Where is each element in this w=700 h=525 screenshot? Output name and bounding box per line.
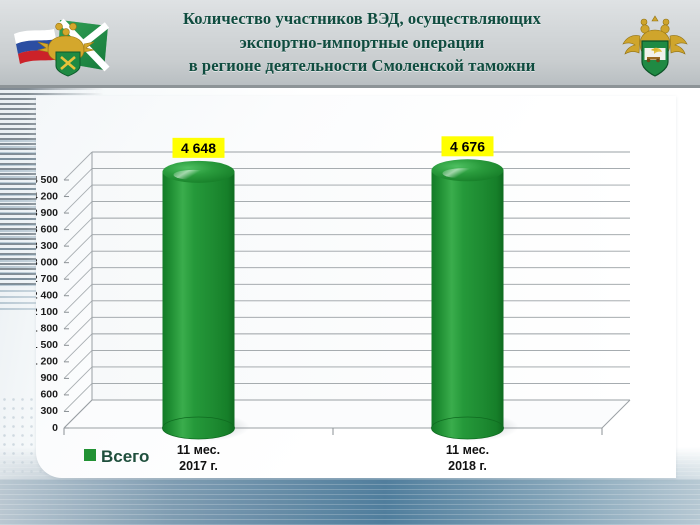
depth-line [64,152,92,180]
x-axis-ticks [64,428,602,435]
value-label: 4 648 [181,140,216,156]
y-axis-tick-label: 3 900 [36,207,58,219]
y-axis-tick-label: 0 [52,422,58,434]
depth-line [64,185,92,213]
category-label-line: 11 мес. [446,443,489,457]
smolensk-customs-emblem-icon [618,10,692,84]
depth-line [64,367,92,395]
legend-label-vsego: Всего [101,447,149,466]
depth-line [64,350,92,378]
depth-line [64,169,92,197]
bar-cylinder-body [432,170,504,439]
bar-cap-highlight [443,168,483,178]
y-axis-labels: 4 5004 2003 9003 6003 3003 0002 7002 400… [36,174,58,434]
depth-line [64,251,92,279]
chart-legend: Всего [84,447,149,466]
y-axis-tick-label: 3 600 [36,223,58,235]
bar-cap-highlight [174,170,214,180]
depth-line [64,334,92,362]
legend-swatch-vsego [84,449,96,461]
slide: Количество участников ВЭД, осуществляющи… [0,0,700,525]
title-line-2: экспортно-импортные операции [183,31,541,54]
y-axis-tick-label: 2 400 [36,290,58,302]
depth-line [64,268,92,296]
y-axis-tick-label: 1 800 [36,323,58,335]
y-axis-tick-label: 300 [40,405,58,417]
depth-line [64,284,92,312]
bar-cylinder-body [163,172,235,439]
y-axis-tick-label: 2 700 [36,273,58,285]
title-line-3: в регионе деятельности Смоленской таможн… [183,54,541,77]
y-axis-tick-label: 1 200 [36,356,58,368]
title-line-1: Количество участников ВЭД, осуществляющи… [183,7,541,30]
depth-line [64,235,92,263]
page-title: Количество участников ВЭД, осуществляющи… [183,7,541,77]
category-label-line: 11 мес. [177,443,220,457]
y-axis-tick-label: 900 [40,372,58,384]
y-axis-tick-label: 4 200 [36,190,58,202]
customs-flag-logo-icon [4,12,124,80]
depth-line [64,218,92,246]
y-axis-tick-label: 3 300 [36,240,58,252]
category-label-line: 2018 г. [448,459,487,473]
value-label: 4 676 [450,138,485,154]
depth-line [64,202,92,230]
bar-chart: 4 5004 2003 9003 6003 3003 0002 7002 400… [36,96,676,496]
y-axis-tick-label: 600 [40,389,58,401]
y-axis-tick-label: 1 500 [36,339,58,351]
slide-header: Количество участников ВЭД, осуществляющи… [0,0,700,88]
y-axis-tick-label: 2 100 [36,306,58,318]
depth-line [64,301,92,329]
category-labels: 11 мес.2017 г.11 мес.2018 г. [177,443,489,473]
depth-line [64,317,92,345]
chart-floor [64,400,630,428]
category-label-line: 2017 г. [179,459,218,473]
y-axis-tick-label: 3 000 [36,256,58,268]
y-axis-tick-label: 4 500 [36,174,58,186]
